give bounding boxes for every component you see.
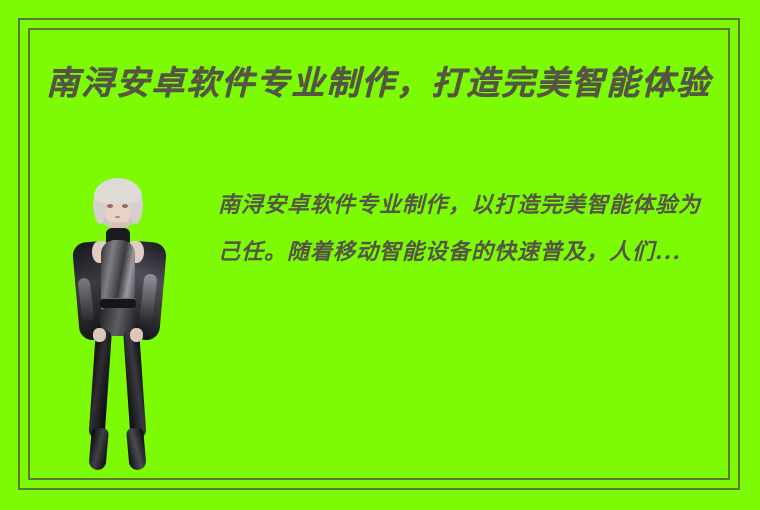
leg-left bbox=[88, 329, 111, 438]
page-title: 南浔安卓软件专业制作，打造完美智能体验 bbox=[46, 58, 736, 108]
hand-left bbox=[93, 328, 106, 342]
eye-left bbox=[107, 204, 113, 208]
character-illustration bbox=[68, 178, 188, 473]
boot-left bbox=[88, 427, 109, 470]
belt bbox=[100, 298, 136, 308]
boot-right bbox=[126, 427, 147, 470]
poster-card: 南浔安卓软件专业制作，打造完美智能体验 南浔安卓软件专业制作，以打造完美智能体验… bbox=[0, 0, 760, 510]
body-text: 南浔安卓软件专业制作，以打造完美智能体验为己任。随着移动智能设备的快速普及，人们… bbox=[218, 182, 718, 276]
eye-right bbox=[122, 204, 128, 208]
hair-bangs bbox=[94, 178, 142, 204]
leg-right bbox=[123, 329, 146, 438]
mouth bbox=[115, 216, 120, 218]
hand-right bbox=[130, 328, 143, 342]
